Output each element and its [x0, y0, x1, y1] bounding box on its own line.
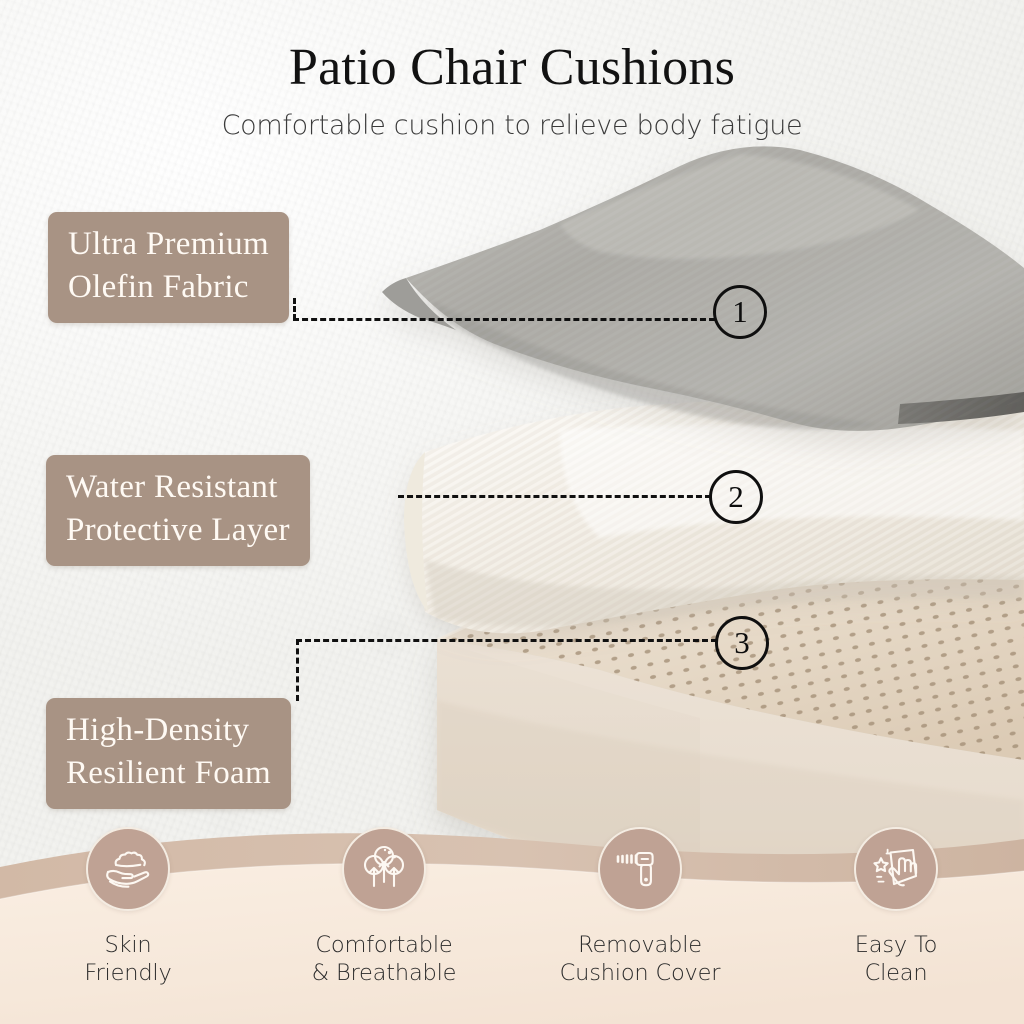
feature-item-comfortable-breathable[interactable]: Comfortable & Breathable — [256, 809, 512, 1024]
feature-label: Skin Friendly — [84, 931, 171, 987]
feature-label: Comfortable & Breathable — [312, 931, 457, 987]
feature-label-line: Removable — [560, 931, 721, 959]
feature-list: Skin Friendly Comfortab — [0, 809, 1024, 1024]
callout-label-water-resistant[interactable]: Water Resistant Protective Layer — [46, 455, 310, 566]
cotton-breathable-arrows-icon — [342, 827, 426, 911]
feature-item-easy-clean[interactable]: Easy To Clean — [768, 809, 1024, 1024]
feature-label-line: Cushion Cover — [560, 959, 721, 987]
zipper-pull-icon — [598, 827, 682, 911]
header: Patio Chair Cushions Comfortable cushion… — [0, 0, 1024, 141]
callout-label-olefin-fabric[interactable]: Ultra Premium Olefin Fabric — [48, 212, 289, 323]
feature-label: Removable Cushion Cover — [560, 931, 721, 987]
page-subtitle: Comfortable cushion to relieve body fati… — [0, 111, 1024, 141]
hand-wiping-cloth-icon — [854, 827, 938, 911]
infographic-canvas: Patio Chair Cushions Comfortable cushion… — [0, 0, 1024, 1024]
callout-label-resilient-foam[interactable]: High-Density Resilient Foam — [46, 698, 291, 809]
olefin-fabric-layer — [382, 146, 1024, 431]
hand-holding-cotton-icon — [86, 827, 170, 911]
feature-label-line: Comfortable — [312, 931, 457, 959]
feature-item-skin-friendly[interactable]: Skin Friendly — [0, 809, 256, 1024]
callout-label-line: Resilient Foam — [66, 752, 271, 795]
callout-label-line: Water Resistant — [66, 466, 290, 509]
feature-label: Easy To Clean — [855, 931, 937, 987]
callout-number-3[interactable]: 3 — [715, 616, 769, 670]
feature-label-line: Skin — [84, 931, 171, 959]
callout-label-line: Olefin Fabric — [68, 266, 269, 309]
page-title: Patio Chair Cushions — [0, 42, 1024, 94]
callout-label-line: Protective Layer — [66, 509, 290, 552]
callout-label-line: High-Density — [66, 709, 271, 752]
callout-label-line: Ultra Premium — [68, 223, 269, 266]
feature-label-line: Friendly — [84, 959, 171, 987]
feature-label-line: Easy To — [855, 931, 937, 959]
feature-label-line: & Breathable — [312, 959, 457, 987]
water-resistant-layer — [404, 399, 1024, 634]
feature-label-line: Clean — [855, 959, 937, 987]
feature-item-removable-cover[interactable]: Removable Cushion Cover — [512, 809, 768, 1024]
callout-number-1[interactable]: 1 — [713, 285, 767, 339]
callout-number-2[interactable]: 2 — [709, 470, 763, 524]
